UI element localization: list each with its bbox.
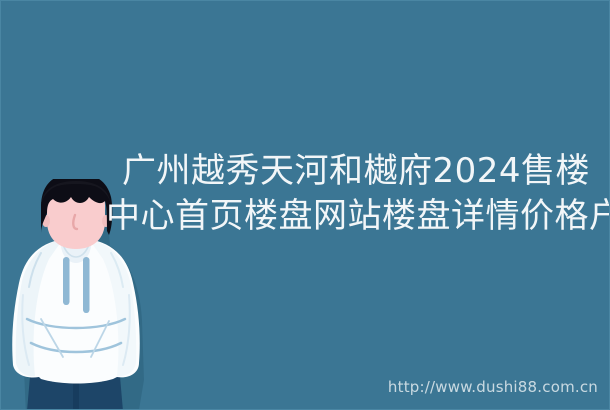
- hoodie: [12, 237, 140, 384]
- banner-title-line-2: 中心首页楼盘网站楼盘详情价格户: [106, 194, 606, 239]
- watermark-url: http://www.dushi88.com.cn: [388, 378, 598, 396]
- banner-title-line-1: 广州越秀天河和樾府2024售楼: [106, 149, 606, 194]
- property-banner: 广州越秀天河和樾府2024售楼 中心首页楼盘网站楼盘详情价格户 http://w…: [0, 0, 610, 410]
- banner-title: 广州越秀天河和樾府2024售楼 中心首页楼盘网站楼盘详情价格户: [106, 149, 606, 239]
